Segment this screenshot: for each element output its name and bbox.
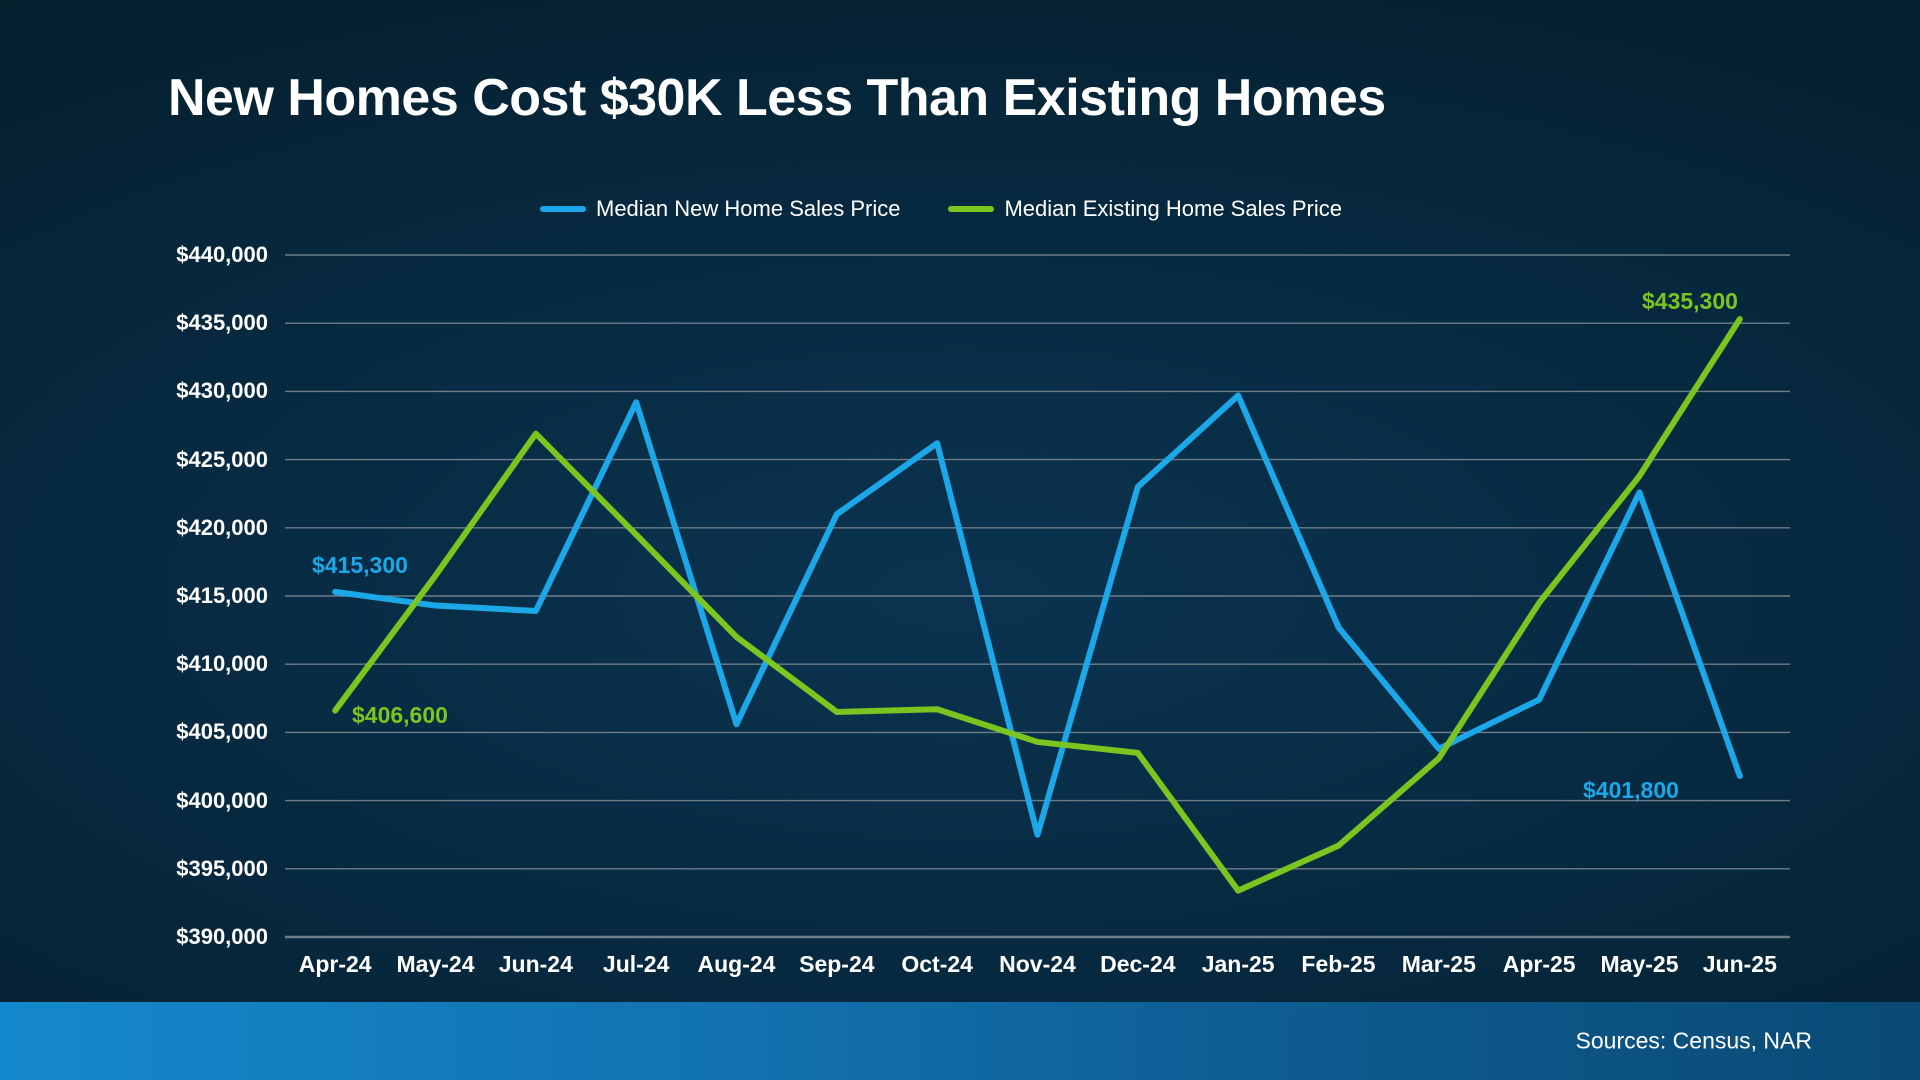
x-axis-tick-label: May-25 xyxy=(1601,951,1679,978)
x-axis-tick-label: Mar-25 xyxy=(1402,951,1476,978)
sources-text: Sources: Census, NAR xyxy=(1576,1028,1812,1055)
x-axis-tick-label: Jan-25 xyxy=(1202,951,1275,978)
x-axis-tick-label: Jul-24 xyxy=(603,951,669,978)
chart-plot-area: $440,000$435,000$430,000$425,000$420,000… xyxy=(0,0,1920,1080)
x-axis-tick-label: Jun-24 xyxy=(499,951,573,978)
x-axis-tick-label: Jun-25 xyxy=(1703,951,1777,978)
x-axis-tick-label: Aug-24 xyxy=(698,951,776,978)
x-axis-tick-label: Apr-25 xyxy=(1503,951,1576,978)
x-axis-tick-label: May-24 xyxy=(397,951,475,978)
x-axis-tick-label: Apr-24 xyxy=(299,951,372,978)
data-point-callout: $435,300 xyxy=(1642,288,1738,315)
x-axis-tick-labels: Apr-24May-24Jun-24Jul-24Aug-24Sep-24Oct-… xyxy=(0,0,1920,1080)
x-axis-tick-label: Sep-24 xyxy=(799,951,874,978)
data-point-callout: $401,800 xyxy=(1583,777,1679,804)
x-axis-tick-label: Dec-24 xyxy=(1100,951,1175,978)
x-axis-tick-label: Feb-25 xyxy=(1301,951,1375,978)
x-axis-tick-label: Nov-24 xyxy=(999,951,1076,978)
data-point-callout: $406,600 xyxy=(352,702,448,729)
data-point-callout: $415,300 xyxy=(312,552,408,579)
x-axis-tick-label: Oct-24 xyxy=(901,951,973,978)
footer-band: Sources: Census, NAR xyxy=(0,1002,1920,1080)
